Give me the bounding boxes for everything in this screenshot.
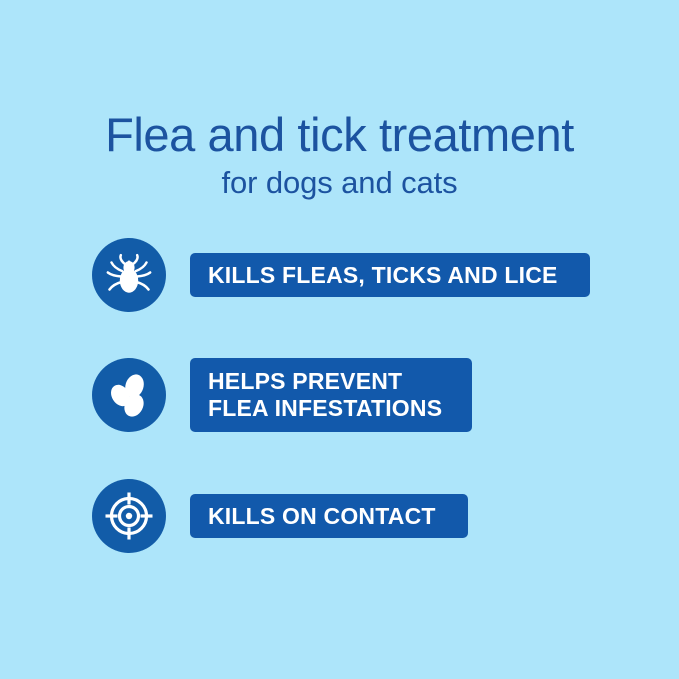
feature-row: KILLS ON CONTACT — [92, 479, 468, 553]
heading-block: Flea and tick treatment for dogs and cat… — [0, 108, 679, 202]
feature-row: HELPS PREVENT FLEA INFESTATIONS — [92, 358, 472, 432]
flea-eggs-icon — [92, 358, 166, 432]
flea-tick-infographic: Flea and tick treatment for dogs and cat… — [0, 0, 679, 679]
badge-text-line: KILLS ON CONTACT — [208, 503, 468, 530]
feature-badge: KILLS ON CONTACT — [190, 494, 468, 538]
badge-text-line: FLEA INFESTATIONS — [208, 395, 472, 422]
feature-badge: KILLS FLEAS, TICKS AND LICE — [190, 253, 590, 297]
badge-text-line: KILLS FLEAS, TICKS AND LICE — [208, 262, 590, 289]
feature-row: KILLS FLEAS, TICKS AND LICE — [92, 238, 590, 312]
badge-text-line: HELPS PREVENT — [208, 368, 472, 395]
crosshair-target-icon — [92, 479, 166, 553]
tick-icon — [92, 238, 166, 312]
feature-badge: HELPS PREVENT FLEA INFESTATIONS — [190, 358, 472, 432]
page-title: Flea and tick treatment — [0, 108, 679, 162]
page-subtitle: for dogs and cats — [0, 164, 679, 202]
